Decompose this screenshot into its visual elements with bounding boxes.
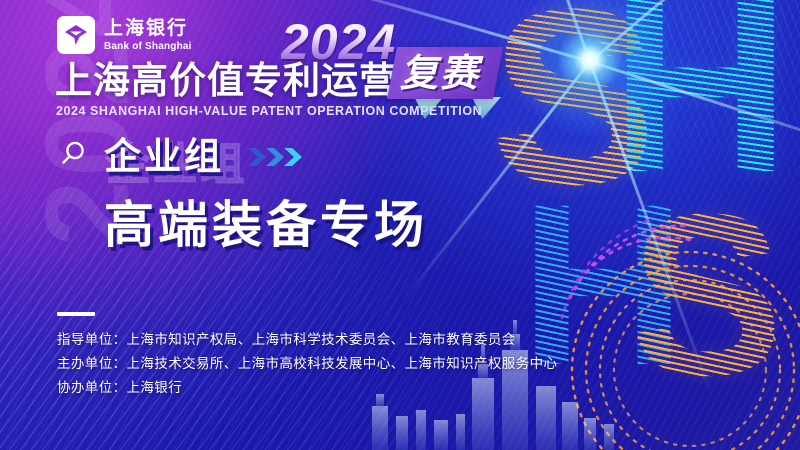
bank-logo: 上海银行 Bank of Shanghai <box>57 16 192 54</box>
footer-line-guidance: 指导单位：上海市知识产权局、上海市科学技术委员会、上海市教育委员会 <box>57 328 557 352</box>
poster-canvas: 2024 H S S H <box>0 0 800 450</box>
search-icon <box>58 139 88 174</box>
group-label: 企业组 <box>104 138 224 175</box>
group-row: 企业组 <box>58 138 308 175</box>
divider <box>57 312 95 316</box>
bank-logo-en: Bank of Shanghai <box>104 42 192 52</box>
footer-organizations: 指导单位：上海市知识产权局、上海市科学技术委员会、上海市教育委员会 主办单位：上… <box>57 328 557 400</box>
footer-line-host: 主办单位：上海技术交易所、上海市高校科技发展中心、上海市知识产权服务中心 <box>57 352 557 376</box>
bank-logo-cn: 上海银行 <box>104 19 192 38</box>
page-subtitle-en: 2024 SHANGHAI HIGH-VALUE PATENT OPERATIO… <box>56 104 482 118</box>
headline: 高端装备专场 <box>104 198 428 253</box>
status-badge: 复赛 <box>400 52 480 96</box>
footer-line-cohost: 协办单位：上海银行 <box>57 376 557 400</box>
diamond-arrow-icon <box>57 16 95 54</box>
triple-chevron-right-icon <box>246 145 308 169</box>
